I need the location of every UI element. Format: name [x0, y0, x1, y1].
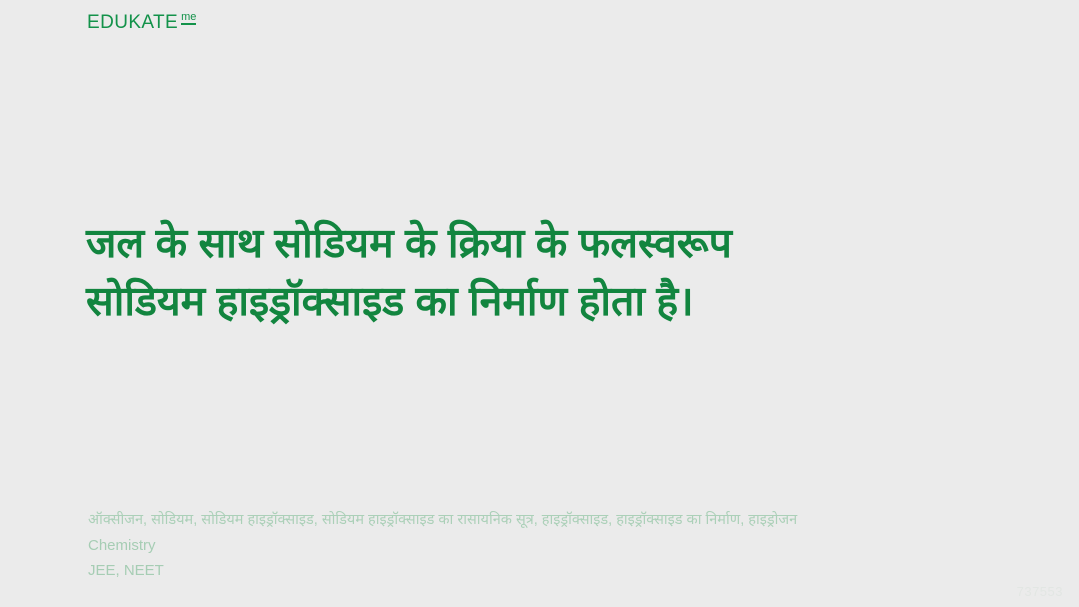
headline-line-1: जल के साथ सोडियम के क्रिया के फलस्वरूप [86, 214, 986, 272]
slide-metadata: ऑक्सीजन, सोडियम, सोडियम हाइड्रॉक्साइड, स… [88, 508, 948, 583]
brand-logo-text: EDUKATE [87, 13, 178, 32]
metadata-keywords: ऑक्सीजन, सोडियम, सोडियम हाइड्रॉक्साइड, स… [88, 508, 933, 532]
slide-canvas: EDUKATE me जल के साथ सोडियम के क्रिया के… [0, 0, 1079, 607]
metadata-subject: Chemistry [88, 533, 948, 558]
slide-headline: जल के साथ सोडियम के क्रिया के फलस्वरूप स… [86, 214, 986, 330]
metadata-exams: JEE, NEET [88, 558, 948, 583]
brand-logo-superscript: me [181, 12, 196, 25]
slide-reference-id: 737553 [1017, 584, 1063, 599]
headline-line-2: सोडियम हाइड्रॉक्साइड का निर्माण होता है। [86, 272, 986, 330]
brand-logo[interactable]: EDUKATE me [87, 13, 196, 32]
